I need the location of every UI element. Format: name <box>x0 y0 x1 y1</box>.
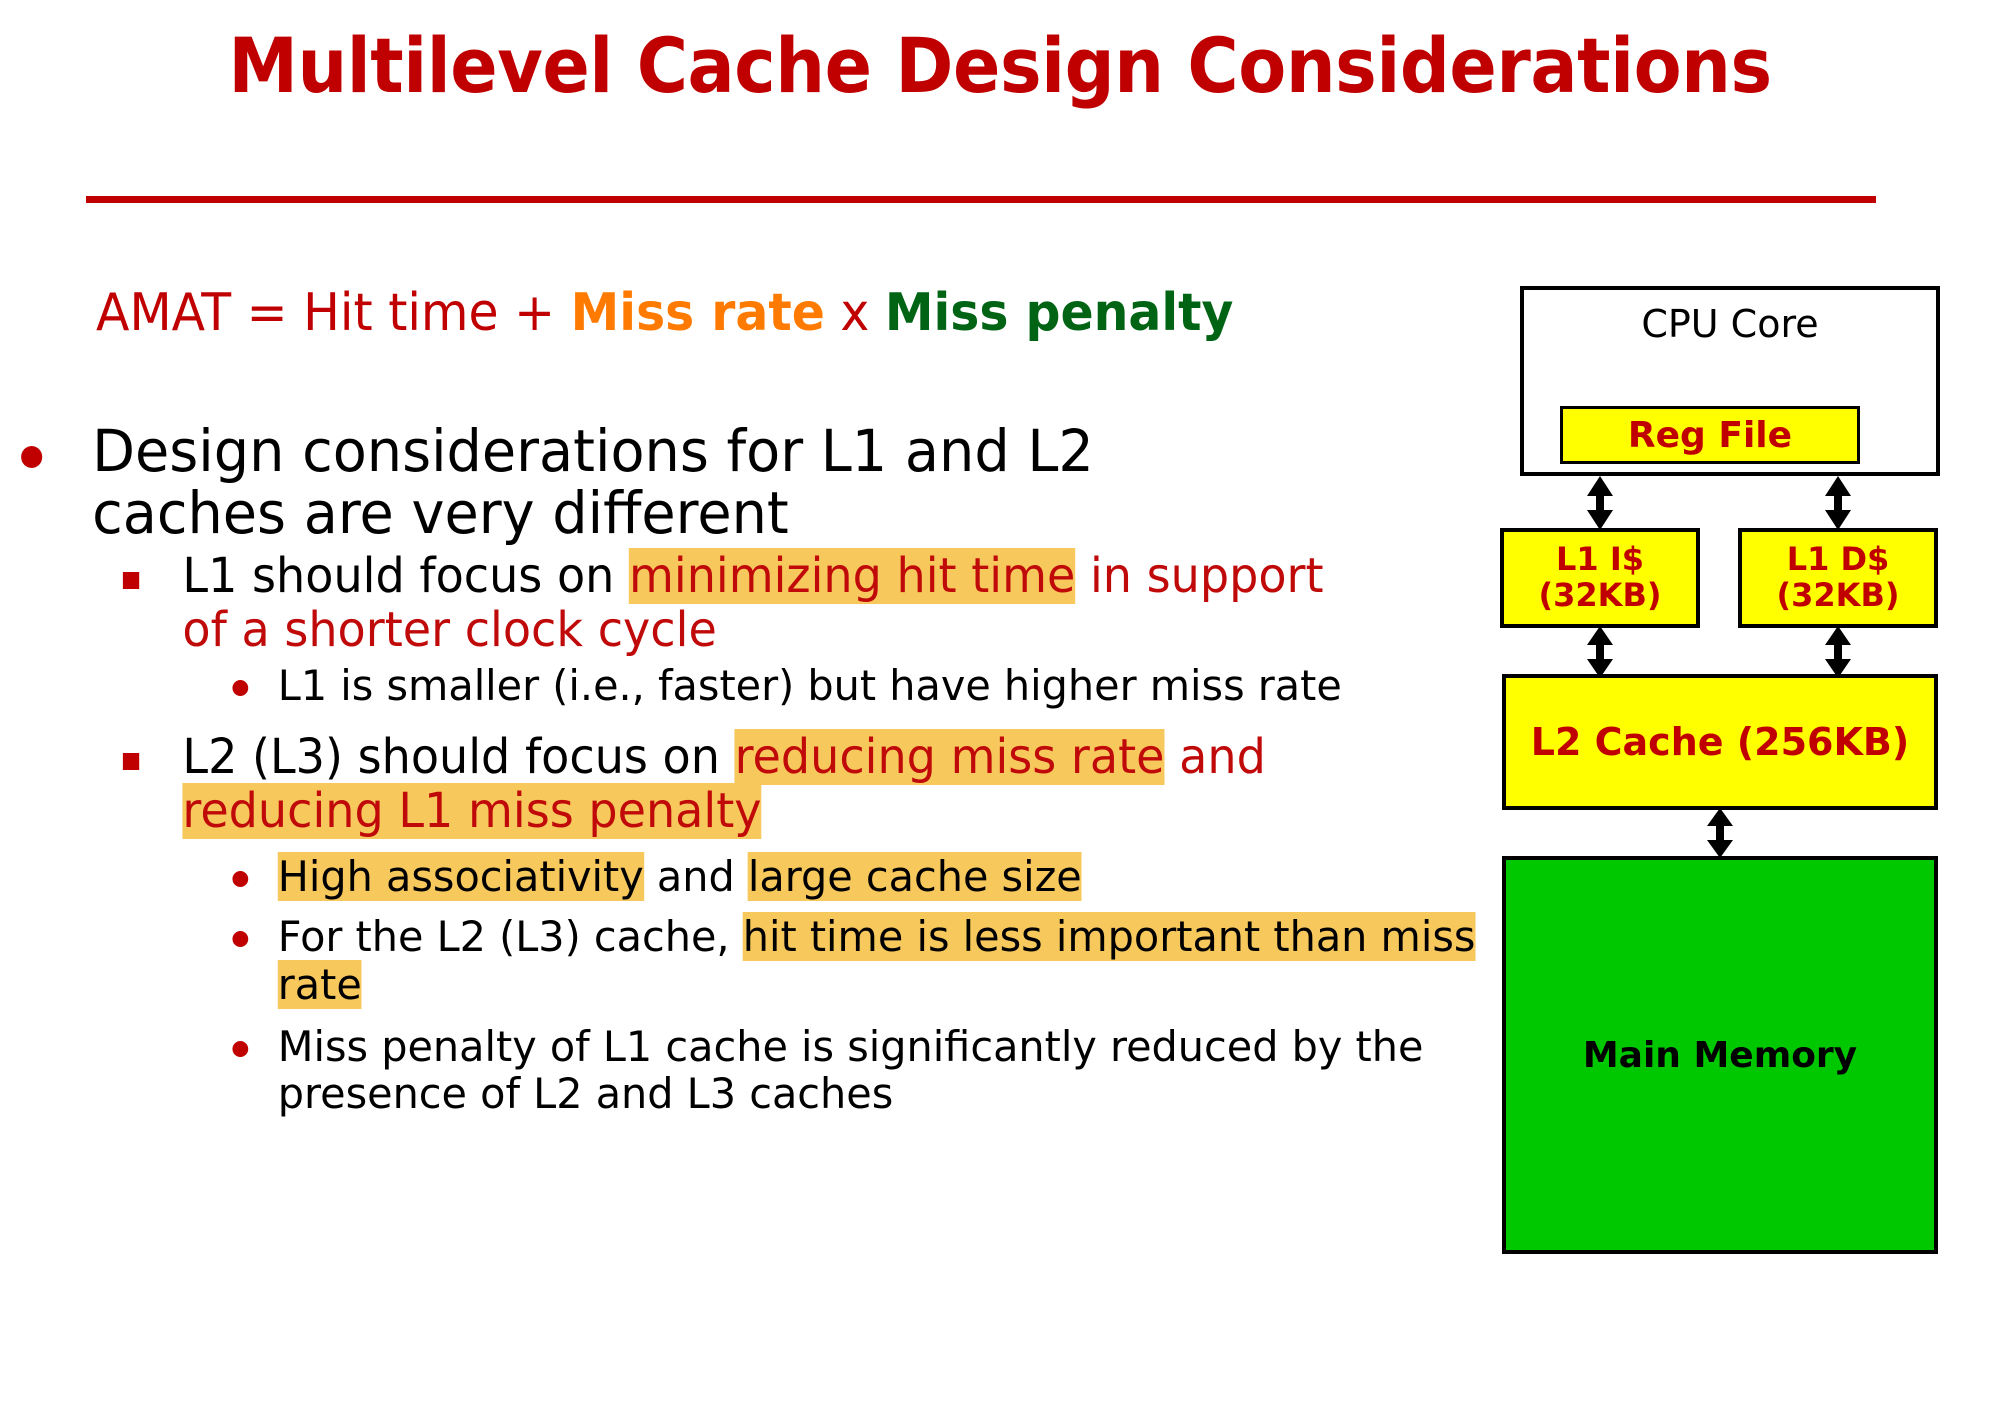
amat-label: AMAT = <box>96 283 303 343</box>
reg-file-box: Reg File <box>1560 406 1860 464</box>
bullet-level1-design-considerations: Design considerations for L1 and L2 cach… <box>0 420 1225 544</box>
l2-sub2-lead: For the L2 (L3) cache, <box>278 912 743 961</box>
l1-sub-text: L1 is smaller (i.e., faster) but have hi… <box>278 661 1342 710</box>
l2-sub1-highlight2: large cache size <box>748 852 1082 901</box>
main-memory-label: Main Memory <box>1583 1035 1857 1076</box>
bullet-dot-icon <box>21 446 42 468</box>
bullet-l2-focus: L2 (L3) should focus on reducing miss ra… <box>0 731 1382 839</box>
l2-focus-and: and <box>1179 729 1266 785</box>
bullet-l2-sub-hit-time: For the L2 (L3) cache, hit time is less … <box>0 913 1548 1009</box>
double-arrow-icon <box>1703 808 1737 858</box>
bullet-l1-focus: L1 should focus on minimizing hit time i… <box>0 550 1382 658</box>
l2-cache-box: L2 Cache (256KB) <box>1502 674 1938 810</box>
amat-formula: AMAT = Hit time + Miss rate x Miss penal… <box>96 286 1233 341</box>
plus-operator: + <box>499 283 571 343</box>
l2-cache-label: L2 Cache (256KB) <box>1531 720 1909 764</box>
times-operator: x <box>825 283 885 343</box>
bullet-content: Design considerations for L1 and L2 cach… <box>0 420 1400 1118</box>
l1-instruction-cache-box: L1 I$ (32KB) <box>1500 528 1700 628</box>
reg-file-label: Reg File <box>1628 415 1792 456</box>
double-arrow-icon <box>1583 476 1617 530</box>
slide-canvas: Multilevel Cache Design Considerations A… <box>0 0 2000 1420</box>
bullet-dot-icon <box>232 871 248 887</box>
arrow-l1i-to-l2 <box>1583 626 1617 678</box>
bullet-square-icon <box>123 753 139 770</box>
arrow-l1d-to-l2 <box>1821 626 1855 678</box>
bullet-dot-icon <box>232 680 248 696</box>
main-memory-box: Main Memory <box>1502 856 1938 1254</box>
bullet-dot-icon <box>232 931 248 947</box>
arrow-l2-to-memory <box>1703 808 1737 858</box>
bullet-l1-sub-smaller: L1 is smaller (i.e., faster) but have hi… <box>0 662 1548 710</box>
l1-focus-lead: L1 should focus on <box>182 548 629 604</box>
l1d-size: (32KB) <box>1777 576 1900 614</box>
title-divider <box>86 196 1876 203</box>
double-arrow-icon <box>1583 626 1617 678</box>
memory-hierarchy-diagram: CPU Core Reg File L1 I$ (32KB) L1 D$ <box>1520 286 1968 1396</box>
l1i-size: (32KB) <box>1539 576 1662 614</box>
l1i-label: L1 I$ (32KB) <box>1539 542 1662 614</box>
double-arrow-icon <box>1821 626 1855 678</box>
bullet-l2-sub-miss-penalty: Miss penalty of L1 cache is significantl… <box>0 1023 1548 1119</box>
bullet-l2-sub-associativity: High associativity and large cache size <box>0 853 1548 901</box>
l2-focus-highlight1: reducing miss rate <box>735 729 1165 785</box>
cpu-core-label: CPU Core <box>1641 302 1818 346</box>
l1d-label: L1 D$ (32KB) <box>1777 542 1900 614</box>
l1i-title: L1 I$ <box>1556 540 1644 578</box>
miss-rate-term: Miss rate <box>571 283 825 343</box>
l1-data-cache-box: L1 D$ (32KB) <box>1738 528 1938 628</box>
double-arrow-icon <box>1821 476 1855 530</box>
hit-time-term: Hit time <box>303 283 498 343</box>
l1-focus-highlight: minimizing hit time <box>629 548 1075 604</box>
l2-focus-highlight2: reducing L1 miss penalty <box>182 783 761 839</box>
bullet-dot-icon <box>232 1041 248 1057</box>
page-title: Multilevel Cache Design Considerations <box>80 28 1920 104</box>
bullet-level1-text: Design considerations for L1 and L2 cach… <box>92 417 1094 547</box>
l2-sub3-text: Miss penalty of L1 cache is significantl… <box>278 1022 1424 1119</box>
arrow-core-to-l1d <box>1821 476 1855 530</box>
bullet-square-icon <box>123 572 139 589</box>
arrow-core-to-l1i <box>1583 476 1617 530</box>
l2-sub1-mid: and <box>644 852 748 901</box>
miss-penalty-term: Miss penalty <box>885 283 1234 343</box>
l1d-title: L1 D$ <box>1787 540 1890 578</box>
l2-focus-lead: L2 (L3) should focus on <box>182 729 734 785</box>
l1-focus-tail: in <box>1075 548 1132 604</box>
l2-sub1-highlight1: High associativity <box>278 852 644 901</box>
